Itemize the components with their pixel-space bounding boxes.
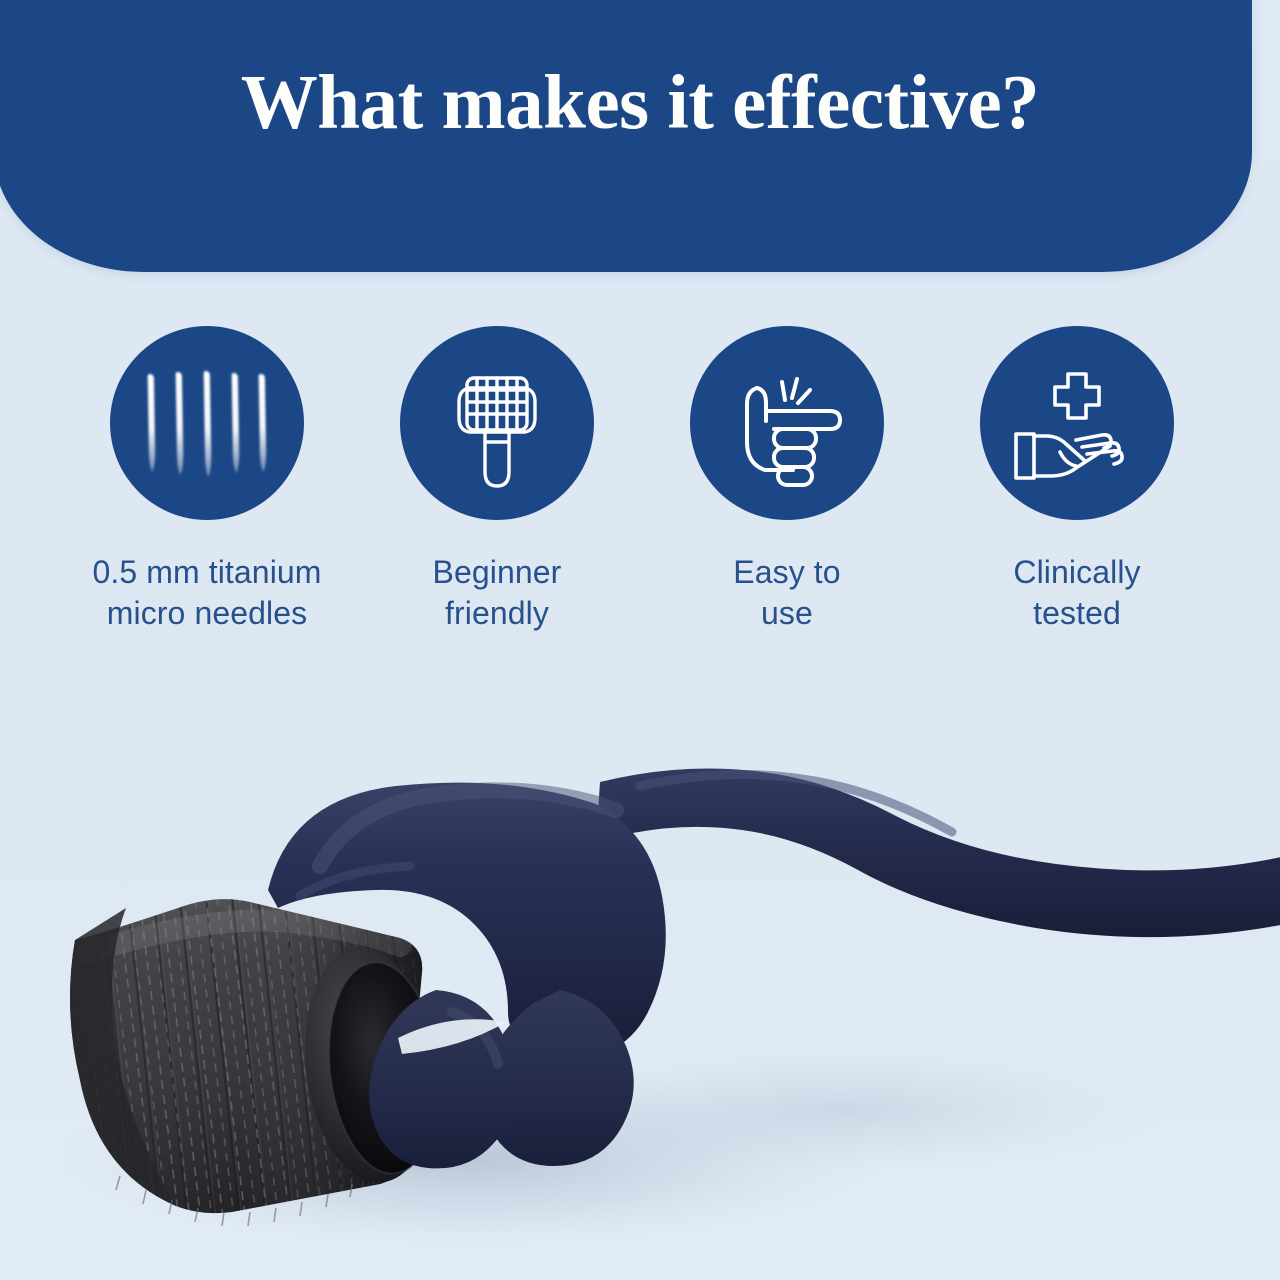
feature-item-beginner-friendly[interactable]: Beginner friendly [352,326,642,634]
feature-label: Clinically tested [1013,552,1140,634]
feature-list: 0.5 mm titanium micro needles [0,326,1280,634]
feature-item-clinically-tested[interactable]: Clinically tested [932,326,1222,634]
micro-needles-icon [132,348,282,498]
feature-label: Beginner friendly [433,552,562,634]
feature-label: 0.5 mm titanium micro needles [92,552,321,634]
feature-icon-badge [400,326,594,520]
roller-handle-arm [596,769,1280,938]
hand-with-medical-cross-icon [1002,348,1152,498]
feature-icon-badge [110,326,304,520]
feature-icon-badge [980,326,1174,520]
derma-roller-icon [422,348,572,498]
feature-icon-badge [690,326,884,520]
feature-item-easy-to-use[interactable]: Easy to use [642,326,932,634]
product-photo-area [0,690,1280,1280]
pointing-hand-icon [712,348,862,498]
infographic-page: What makes it effective? [0,0,1280,1280]
feature-label: Easy to use [733,552,840,634]
feature-item-micro-needles[interactable]: 0.5 mm titanium micro needles [62,326,352,634]
page-title: What makes it effective? [0,58,1280,147]
derma-roller-product-photo [0,690,1280,1280]
